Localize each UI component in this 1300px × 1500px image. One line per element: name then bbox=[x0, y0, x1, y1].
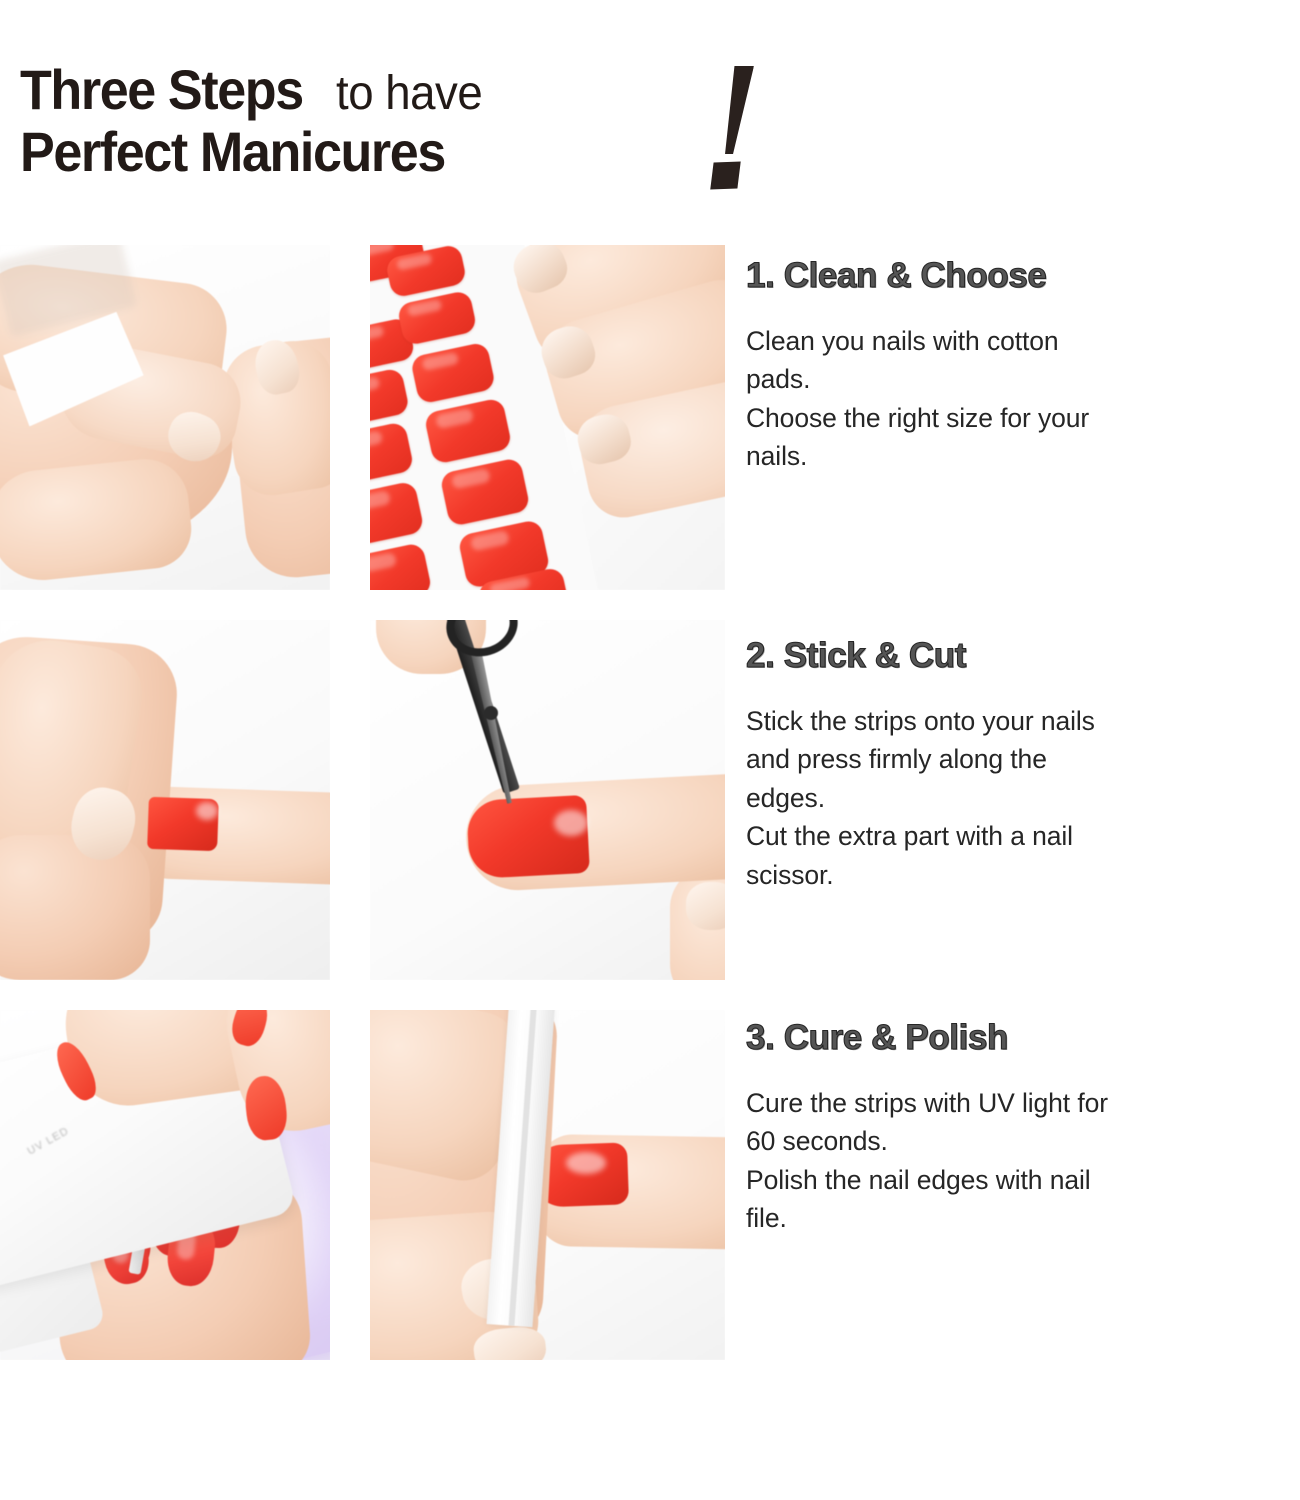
step-2-heading: 2. Stick & Cut bbox=[746, 636, 1291, 676]
step-3-line-1: Cure the strips with UV light for bbox=[746, 1084, 1291, 1122]
photo-cut-strip-with-scissor bbox=[370, 620, 725, 980]
step-3-line-2: 60 seconds. bbox=[746, 1122, 1291, 1160]
photo-clean-nail-with-cotton-pad bbox=[0, 245, 330, 590]
page-title: Three Stepsto have Perfect Manicures bbox=[20, 62, 780, 212]
title-line-1: Three Stepsto have bbox=[20, 62, 490, 118]
step-1-line-2: pads. bbox=[746, 360, 1291, 398]
step-1-line-4: nails. bbox=[746, 437, 1291, 475]
title-bold-1: Three Steps bbox=[20, 62, 303, 118]
photo-red-strip-sheet bbox=[370, 245, 725, 590]
step-3-body: Cure the strips with UV light for 60 sec… bbox=[746, 1084, 1291, 1238]
step-2-line-2: and press firmly along the bbox=[746, 740, 1291, 778]
photo-press-strip-on-nail bbox=[0, 620, 330, 980]
step-1-body: Clean you nails with cotton pads. Choose… bbox=[746, 322, 1291, 476]
scissor-hinge bbox=[484, 706, 498, 720]
step-1-heading: 1. Clean & Choose bbox=[746, 256, 1291, 296]
step-2-block: 2. Stick & Cut Stick the strips onto you… bbox=[746, 636, 1291, 894]
step-1-line-3: Choose the right size for your bbox=[746, 399, 1291, 437]
step-3-line-4: file. bbox=[746, 1199, 1291, 1237]
title-light-1: to have bbox=[336, 70, 482, 118]
step-3-heading: 3. Cure & Polish bbox=[746, 1018, 1291, 1058]
step-2-line-3: edges. bbox=[746, 779, 1291, 817]
step-3-line-3: Polish the nail edges with nail bbox=[746, 1161, 1291, 1199]
exclamation-mark-icon bbox=[700, 66, 780, 191]
title-line-2: Perfect Manicures bbox=[20, 124, 477, 180]
exclamation-stem bbox=[715, 66, 754, 154]
exclamation-dot bbox=[710, 162, 740, 190]
photo-cure-under-uv-lamp: UV LED bbox=[0, 1010, 330, 1360]
step-3-block: 3. Cure & Polish Cure the strips with UV… bbox=[746, 1018, 1291, 1238]
step-1-block: 1. Clean & Choose Clean you nails with c… bbox=[746, 256, 1291, 476]
step-2-line-5: scissor. bbox=[746, 856, 1291, 894]
step-2-line-4: Cut the extra part with a nail bbox=[746, 817, 1291, 855]
step-2-line-1: Stick the strips onto your nails bbox=[746, 702, 1291, 740]
step-1-line-1: Clean you nails with cotton bbox=[746, 322, 1291, 360]
photo-polish-edge-with-nail-file bbox=[370, 1010, 725, 1360]
step-2-body: Stick the strips onto your nails and pre… bbox=[746, 702, 1291, 894]
title-bold-2: Perfect Manicures bbox=[20, 124, 445, 180]
